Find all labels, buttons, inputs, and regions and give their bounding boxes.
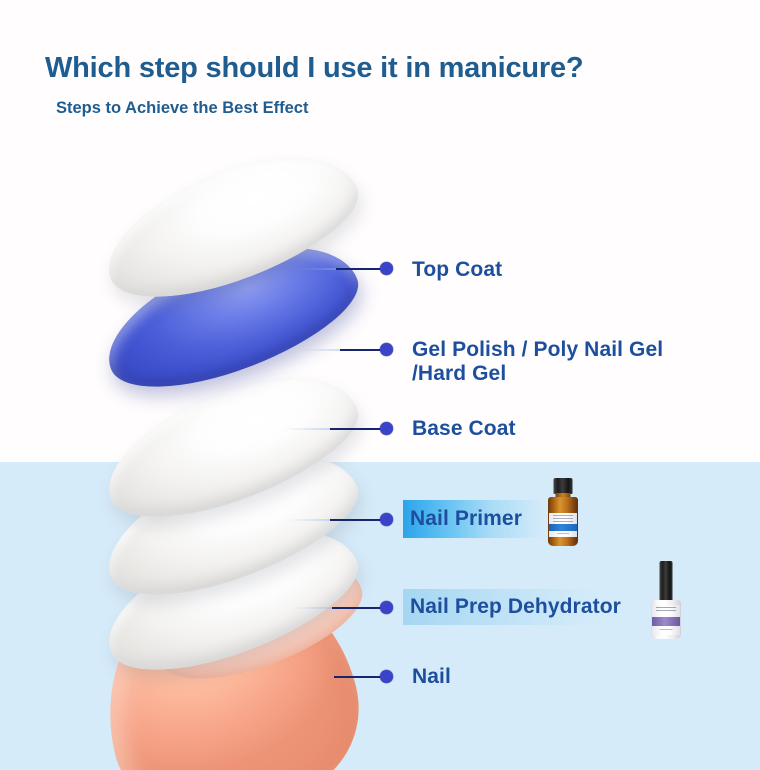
label-base-coat: Base Coat [412, 417, 516, 441]
connector-dot-base-coat [380, 422, 393, 435]
bottle-label-stripe-blue [549, 524, 577, 531]
label-nail-primer: Nail Primer [410, 507, 522, 531]
connector-dot-nail-prep-dehydrator [380, 601, 393, 614]
connector-dot-gel-polish [380, 343, 393, 356]
bottle-label-stripe-purple [652, 617, 680, 626]
label-gel-polish-line1: Gel Polish / Poly Nail Gel [412, 338, 702, 362]
connector-line-nail [334, 676, 386, 678]
label-nail-prep-dehydrator: Nail Prep Dehydrator [410, 595, 621, 619]
bottle-cap-black-tall [660, 561, 673, 602]
nail-dehydrator-bottle [645, 561, 687, 639]
connector-line-nail-primer [330, 519, 386, 521]
bottle-label-microtext-low [660, 629, 673, 632]
label-gel-polish: Gel Polish / Poly Nail Gel /Hard Gel [412, 338, 702, 385]
bottle-label-microtext-top [656, 607, 676, 613]
nail-primer-bottle [543, 478, 583, 546]
label-gel-polish-line2: /Hard Gel [412, 362, 702, 386]
bottle-label-microtext-bottom [557, 533, 569, 536]
connector-dot-top-coat [380, 262, 393, 275]
connector-line-nail-prep-dehydrator [332, 607, 386, 609]
connector-dot-nail-primer [380, 513, 393, 526]
bottle-label-microtext [553, 515, 573, 522]
connector-dot-nail [380, 670, 393, 683]
bottle-cap-black [554, 478, 573, 494]
label-top-coat: Top Coat [412, 258, 502, 282]
label-nail: Nail [412, 665, 451, 689]
connector-line-base-coat [330, 428, 386, 430]
connector-line-top-coat [336, 268, 386, 270]
infographic-canvas: Which step should I use it in manicure? … [0, 0, 760, 770]
